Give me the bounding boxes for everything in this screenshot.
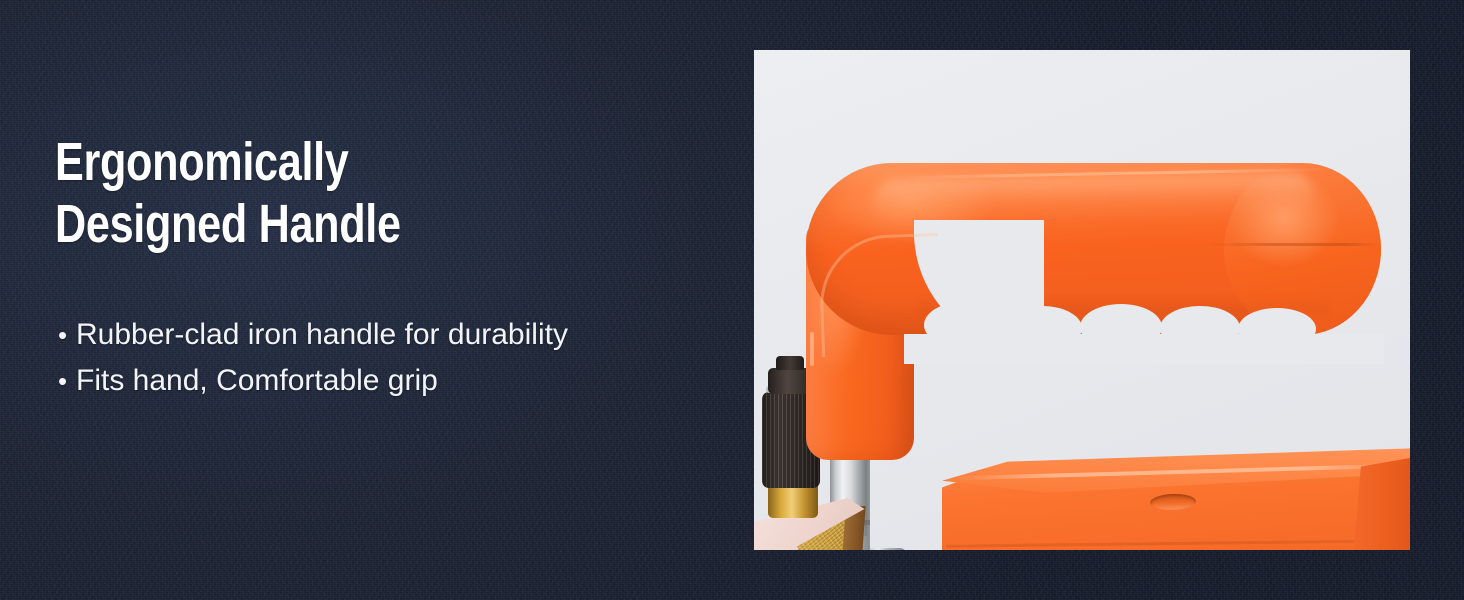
text-column: Ergonomically Designed Handle • Rubber-c…	[55, 0, 715, 600]
bullet-icon: •	[58, 312, 76, 358]
list-item-label: Fits hand, Comfortable grip	[76, 358, 438, 404]
knurled-knob-cap	[776, 356, 804, 370]
product-photo	[754, 50, 1410, 550]
grip-finger-scallop	[1238, 308, 1316, 350]
rubber-grip-seam	[1209, 243, 1381, 246]
feature-list: • Rubber-clad iron handle for durability…	[58, 312, 568, 404]
handle-assembly	[754, 50, 1410, 550]
headline-line-1: Ergonomically	[55, 131, 401, 193]
page-title: Ergonomically Designed Handle	[55, 131, 401, 255]
bullet-icon: •	[58, 358, 76, 404]
grip-finger-scallop	[1160, 306, 1240, 350]
list-item: • Rubber-clad iron handle for durability	[58, 312, 568, 358]
headline-line-2: Designed Handle	[55, 193, 401, 255]
rubber-grip-highlight	[874, 172, 1315, 224]
list-item: • Fits hand, Comfortable grip	[58, 358, 568, 404]
list-item-label: Rubber-clad iron handle for durability	[76, 312, 568, 358]
handle-arm-nick	[810, 332, 814, 366]
grip-finger-scallop	[1080, 304, 1162, 350]
promo-banner: Ergonomically Designed Handle • Rubber-c…	[0, 0, 1464, 600]
